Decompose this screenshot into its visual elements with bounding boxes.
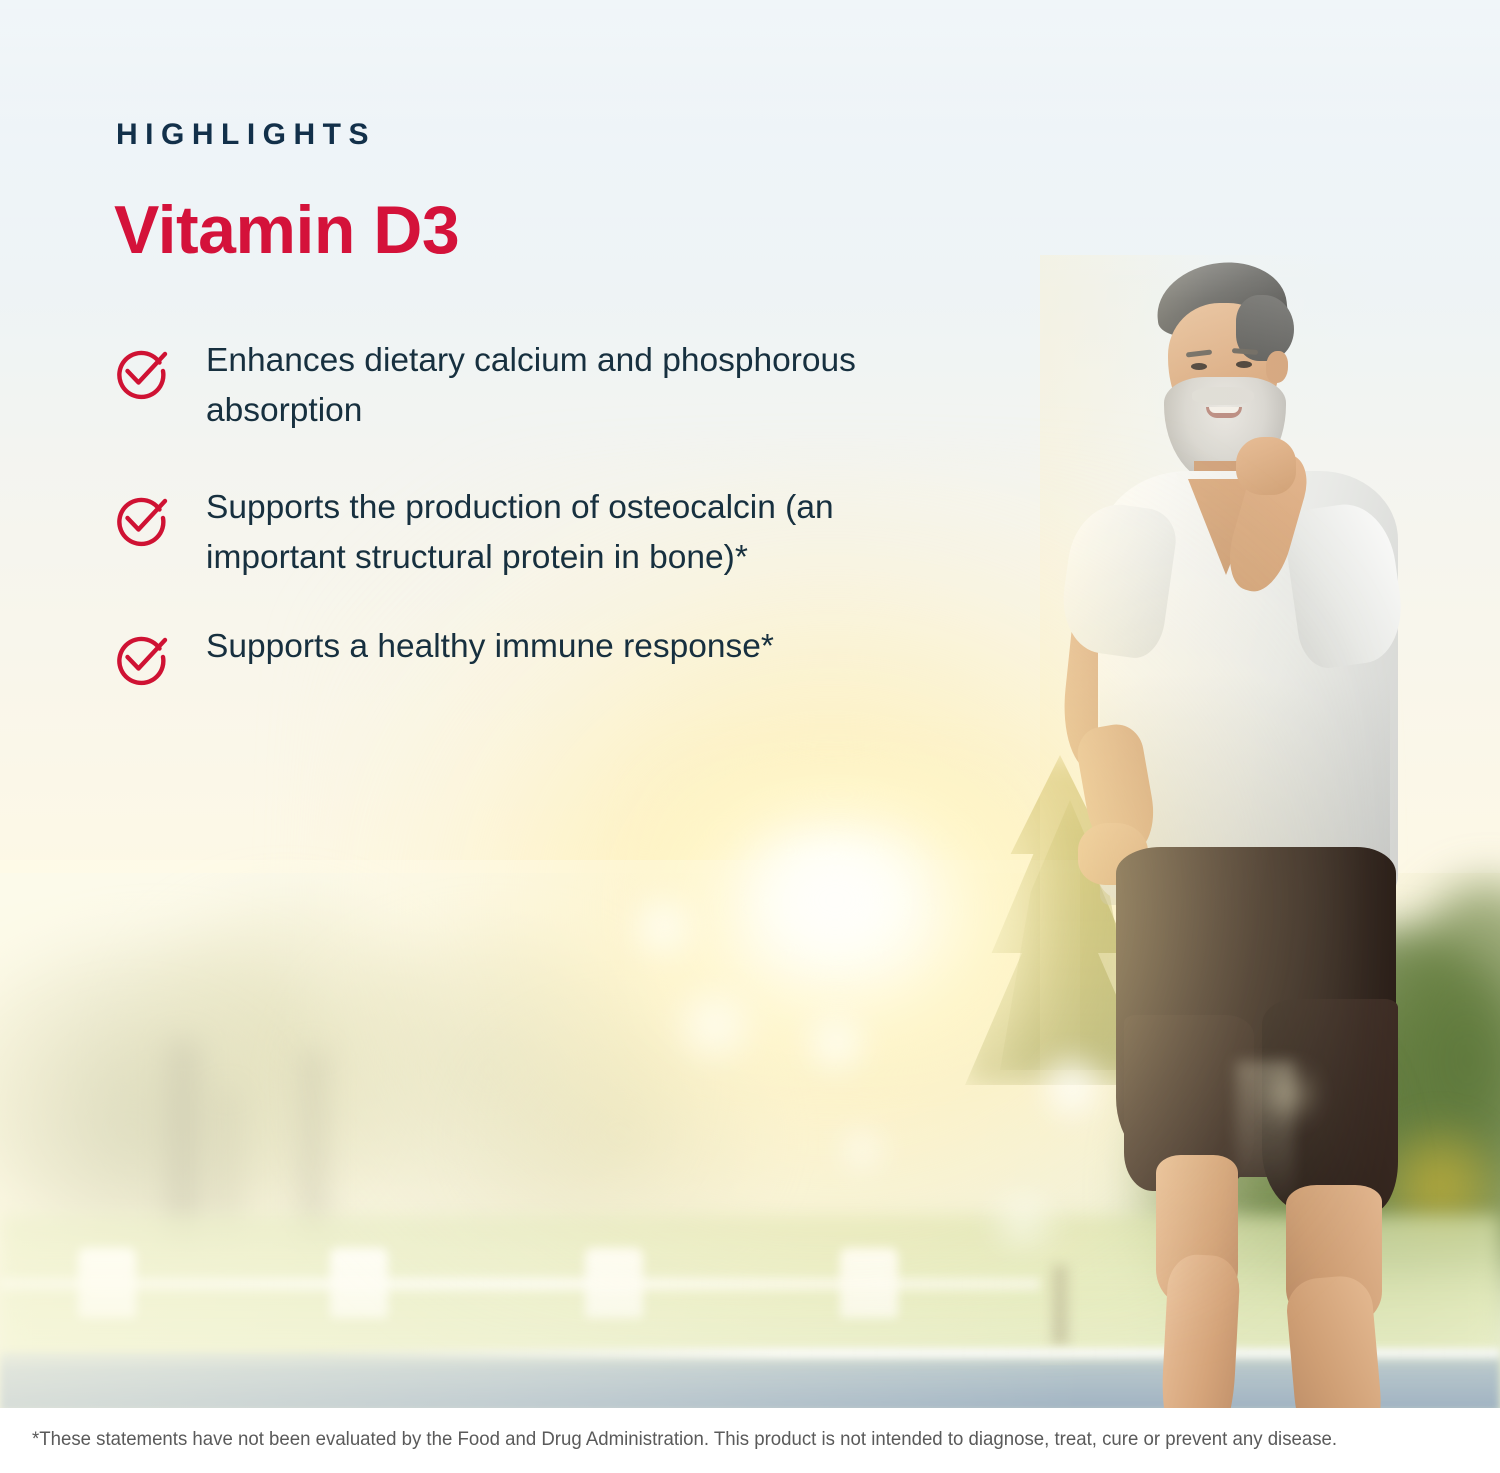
lens-flare: [830, 1120, 894, 1180]
list-item-label: Supports the production of osteocalcin (…: [206, 483, 946, 582]
circle-check-icon: [112, 342, 170, 400]
runner-figure: [1040, 255, 1460, 1365]
fence-post: [585, 1248, 643, 1318]
list-item: Enhances dietary calcium and phosphorous…: [112, 336, 962, 435]
fence-post: [78, 1248, 136, 1318]
tree-trunk: [168, 1040, 198, 1240]
fence-post: [840, 1248, 898, 1318]
list-item-label: Enhances dietary calcium and phosphorous…: [206, 336, 946, 435]
list-item-label: Supports a healthy immune response*: [206, 622, 774, 672]
fda-disclaimer: *These statements have not been evaluate…: [32, 1428, 1407, 1451]
tree-trunk: [300, 1050, 326, 1240]
page-title: Vitamin D3: [114, 196, 459, 264]
left-fist: [1236, 437, 1296, 495]
circle-check-icon: [112, 489, 170, 547]
highlights-panel: HIGHLIGHTS Vitamin D3 Enhances dietary c…: [0, 0, 1000, 1000]
eye: [1236, 361, 1252, 368]
teeth: [1209, 407, 1239, 413]
section-kicker: HIGHLIGHTS: [116, 118, 376, 152]
product-highlights-graphic: HIGHLIGHTS Vitamin D3 Enhances dietary c…: [0, 0, 1500, 1473]
list-item: Supports the production of osteocalcin (…: [112, 483, 962, 582]
eye: [1191, 363, 1207, 370]
footer-band: *These statements have not been evaluate…: [0, 1408, 1500, 1473]
shorts-highlight: [1236, 1061, 1294, 1211]
moustache: [1192, 387, 1254, 405]
circle-check-icon: [112, 628, 170, 686]
fence-post: [330, 1248, 388, 1318]
ear: [1266, 351, 1288, 383]
left-calf: [1159, 1253, 1241, 1408]
list-item: Supports a healthy immune response*: [112, 622, 962, 686]
lens-flare: [800, 1000, 872, 1086]
highlights-list: Enhances dietary calcium and phosphorous…: [112, 336, 962, 734]
